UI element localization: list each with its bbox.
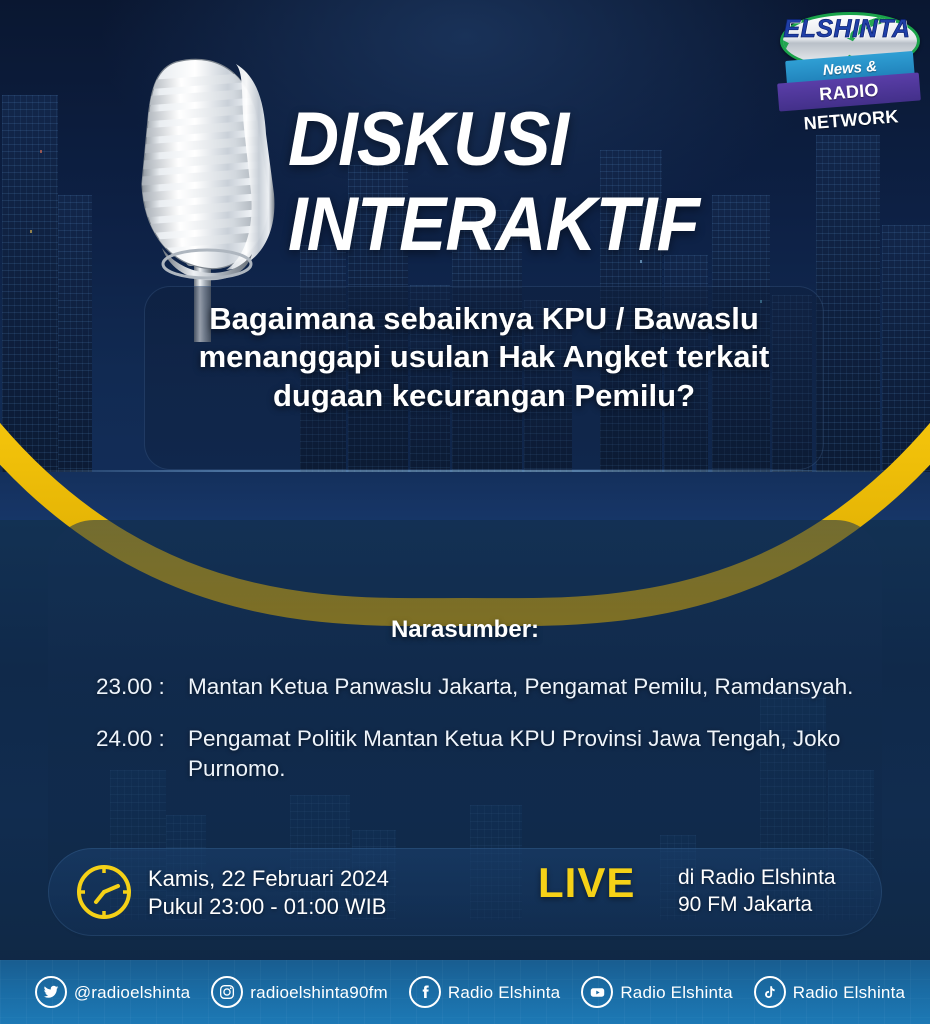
schedule-datetime: Kamis, 22 Februari 2024 Pukul 23:00 - 01… — [148, 865, 389, 921]
social-youtube[interactable]: Radio Elshinta — [581, 976, 732, 1008]
live-badge: LIVE — [538, 862, 635, 904]
narasumber-title: Narasumber: — [0, 618, 930, 642]
elshinta-logo: ELSHINTA News & Information RADIO NETWOR… — [772, 6, 922, 114]
live-station: di Radio Elshinta 90 FM Jakarta — [678, 865, 836, 919]
narasumber-time: 24.00 : — [96, 724, 188, 784]
social-handle: Radio Elshinta — [620, 984, 732, 1001]
twitter-icon — [35, 976, 67, 1008]
facebook-icon — [409, 976, 441, 1008]
social-twitter[interactable]: @radioelshinta — [35, 976, 190, 1008]
youtube-icon — [581, 976, 613, 1008]
live-station-line-1: di Radio Elshinta — [678, 865, 836, 892]
social-tiktok[interactable]: Radio Elshinta — [754, 976, 905, 1008]
clock-icon — [74, 862, 134, 922]
narasumber-text: Mantan Ketua Panwaslu Jakarta, Pengamat … — [188, 672, 856, 702]
narasumber-time: 23.00 : — [96, 672, 188, 702]
social-handle: Radio Elshinta — [793, 984, 905, 1001]
narasumber-text: Pengamat Politik Mantan Ketua KPU Provin… — [188, 724, 856, 784]
social-handle: Radio Elshinta — [448, 984, 560, 1001]
question-text: Bagaimana sebaiknya KPU / Bawaslu menang… — [144, 300, 824, 415]
tiktok-icon — [754, 976, 786, 1008]
schedule-time: Pukul 23:00 - 01:00 WIB — [148, 893, 389, 921]
social-handle: @radioelshinta — [74, 984, 190, 1001]
list-item: 23.00 : Mantan Ketua Panwaslu Jakarta, P… — [96, 672, 856, 702]
narasumber-list: 23.00 : Mantan Ketua Panwaslu Jakarta, P… — [96, 672, 856, 806]
social-instagram[interactable]: radioelshinta90fm — [211, 976, 388, 1008]
schedule-date: Kamis, 22 Februari 2024 — [148, 865, 389, 893]
social-links: @radioelshinta radioelshinta90fm — [0, 960, 930, 1024]
schedule-bar: Kamis, 22 Februari 2024 Pukul 23:00 - 01… — [48, 848, 882, 936]
poster: ELSHINTA News & Information RADIO NETWOR… — [0, 0, 930, 1024]
headline-line-2: INTERAKTIF — [288, 189, 846, 262]
question-box: Bagaimana sebaiknya KPU / Bawaslu menang… — [144, 286, 824, 470]
live-station-line-2: 90 FM Jakarta — [678, 892, 836, 919]
headline: DISKUSI INTERAKTIF — [288, 104, 888, 262]
headline-line-1: DISKUSI — [288, 104, 846, 177]
instagram-icon — [211, 976, 243, 1008]
list-item: 24.00 : Pengamat Politik Mantan Ketua KP… — [96, 724, 856, 784]
social-facebook[interactable]: Radio Elshinta — [409, 976, 560, 1008]
logo-wordmark: ELSHINTA — [772, 17, 922, 42]
social-handle: radioelshinta90fm — [250, 984, 388, 1001]
social-footer: @radioelshinta radioelshinta90fm — [0, 960, 930, 1024]
